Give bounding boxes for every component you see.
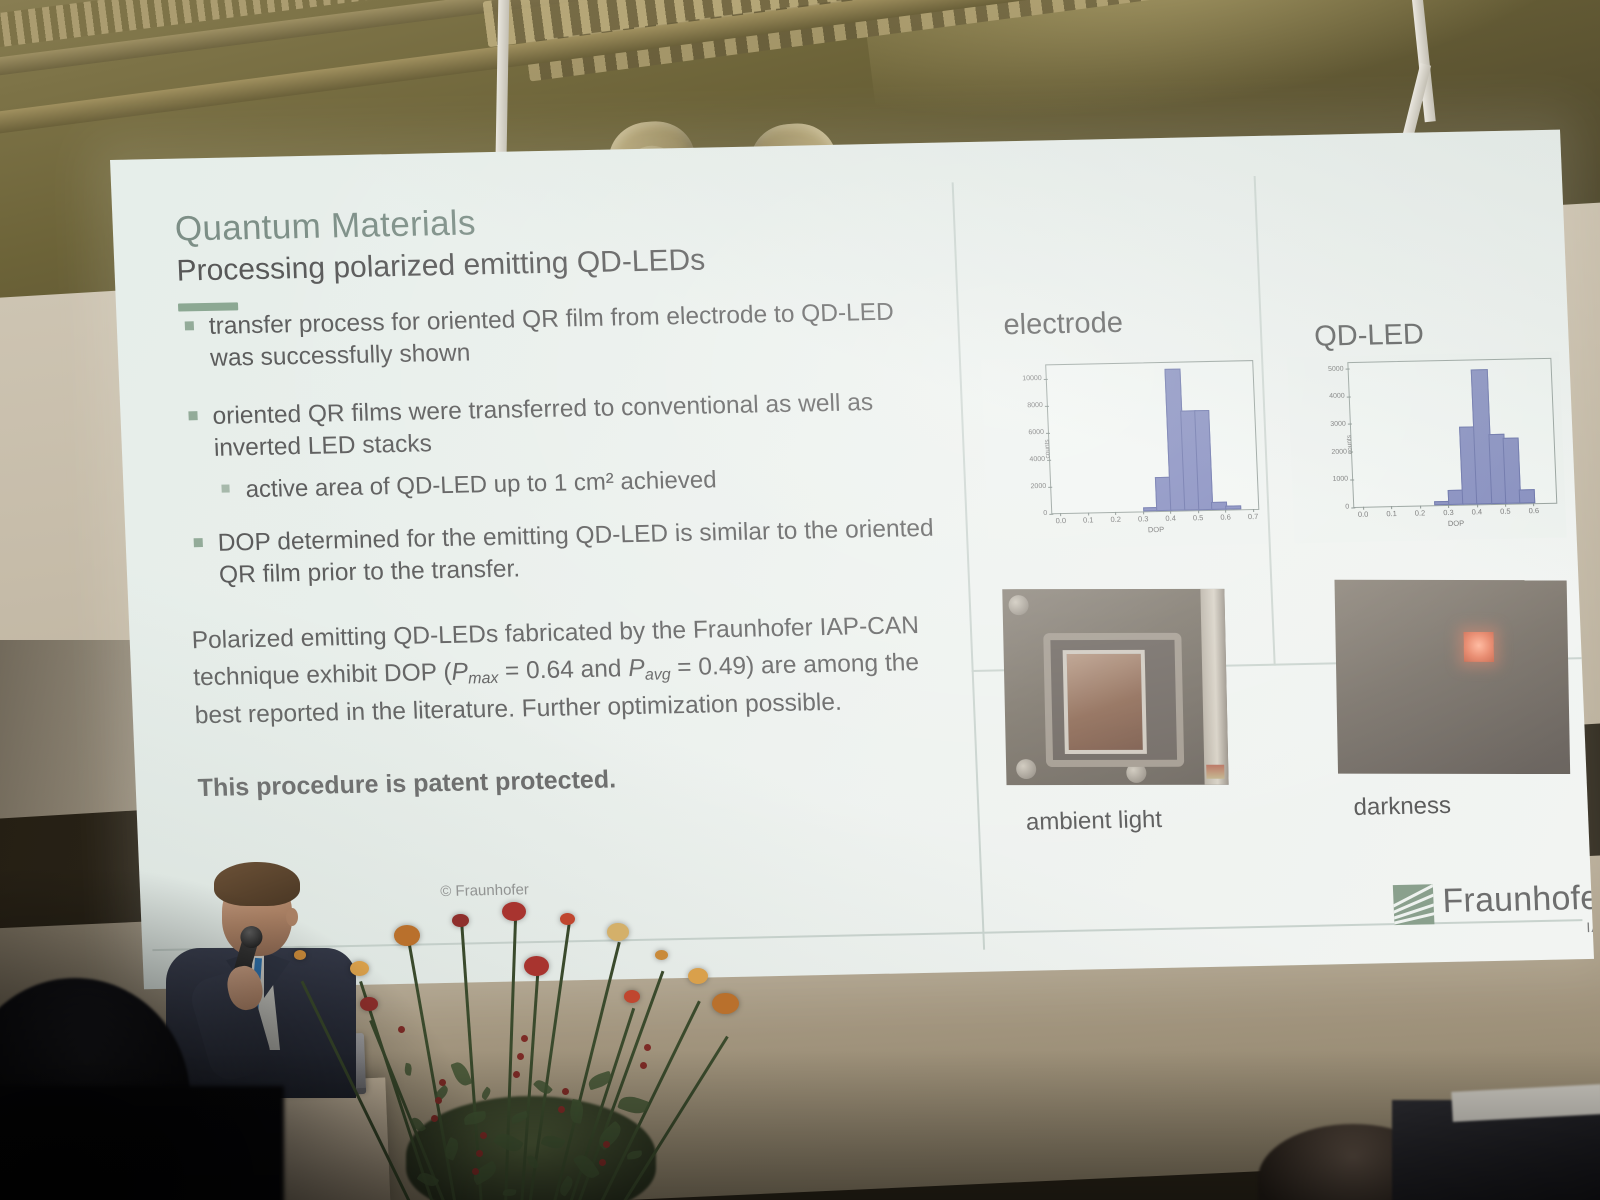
projection-screen: Quantum Materials Processing polarized e…	[110, 130, 1594, 990]
x-axis-tick: 0.0	[1055, 516, 1066, 525]
y-axis-tick: 2000	[1331, 448, 1347, 455]
list-item-sub: active area of QD-LED up to 1 cm² achiev…	[185, 459, 946, 506]
fraunhofer-logo: Fraunhofer IAP	[1393, 881, 1594, 940]
bullet-square-icon	[185, 322, 194, 331]
flower-blossom	[607, 923, 629, 941]
x-axis-label-qdled: DOP	[1448, 519, 1465, 528]
plot-area-qdled: counts DOP 0100020003000400050000.00.10.…	[1347, 358, 1557, 508]
flower-blossom	[502, 902, 526, 921]
y-axis-tick: 8000	[1027, 402, 1043, 409]
y-axis-tick: 4000	[1029, 456, 1045, 463]
bullet-text: DOP determined for the emitting QD-LED i…	[217, 515, 934, 589]
x-axis-tick: 0.6	[1220, 513, 1231, 522]
logo-wordmark: Fraunhofer	[1442, 881, 1594, 918]
x-axis-tick: 0.1	[1386, 509, 1397, 518]
x-axis-tick: 0.4	[1165, 514, 1176, 523]
device-aperture	[1043, 633, 1184, 767]
slide-left-column: Quantum Materials Processing polarized e…	[174, 195, 958, 804]
screw-icon	[1008, 595, 1028, 615]
y-axis-tick: 6000	[1028, 429, 1044, 436]
emitting-qdled-spot	[1464, 632, 1495, 662]
x-axis-label-electrode: DOP	[1148, 525, 1165, 534]
chart-electrode: counts DOP 02000400060008000100000.00.10…	[981, 354, 1267, 550]
flower-blossom	[688, 968, 708, 984]
list-item: oriented QR films were transferred to co…	[182, 386, 945, 466]
x-axis-tick: 0.1	[1083, 515, 1094, 524]
y-axis-tick: 5000	[1328, 365, 1344, 372]
bullet-square-icon	[188, 411, 197, 420]
x-axis-tick: 0.5	[1193, 513, 1204, 522]
p-avg-symbol: P	[628, 655, 645, 682]
bullet-list: transfer process for oriented QR film fr…	[178, 296, 949, 592]
y-axis-tick: 4000	[1329, 393, 1345, 400]
photo-edge-highlight	[1206, 765, 1224, 779]
bullet-text: active area of QD-LED up to 1 cm² achiev…	[245, 466, 717, 503]
device-edge	[1200, 589, 1228, 785]
x-axis-tick: 0.7	[1248, 512, 1259, 521]
photo-ambient-light	[1002, 589, 1228, 785]
x-axis-tick: 0.5	[1500, 507, 1511, 516]
plot-area-electrode: counts DOP 02000400060008000100000.00.10…	[1045, 360, 1259, 514]
y-axis-tick: 0	[1043, 510, 1047, 517]
y-axis-tick: 1000	[1332, 476, 1348, 483]
flower-blossom	[560, 913, 575, 925]
bullet-text: oriented QR films were transferred to co…	[212, 389, 874, 462]
p-avg-subscript: avg	[645, 666, 671, 684]
flower-blossom	[624, 990, 640, 1003]
flower-berry	[521, 1035, 528, 1042]
x-axis-tick: 0.4	[1472, 507, 1483, 516]
y-axis-tick: 0	[1345, 504, 1349, 511]
y-axis-tick: 2000	[1030, 483, 1046, 490]
photo-right-caption: darkness	[1353, 792, 1452, 822]
x-axis-tick: 0.2	[1415, 508, 1426, 517]
x-axis-tick: 0.3	[1443, 508, 1454, 517]
histogram-bar	[1519, 490, 1536, 504]
list-item: transfer process for oriented QR film fr…	[178, 296, 941, 376]
bullet-square-icon	[221, 484, 229, 492]
x-axis-tick: 0.0	[1358, 510, 1369, 519]
y-axis-tick: 10000	[1022, 375, 1042, 382]
p-max-symbol: P	[451, 658, 468, 685]
histogram-bar	[1194, 410, 1214, 510]
chart-left-title: electrode	[1003, 307, 1124, 342]
summary-paragraph: Polarized emitting QD-LEDs fabricated by…	[191, 606, 956, 735]
patent-notice: This procedure is patent protected.	[197, 759, 958, 804]
photo-bottom-vignette	[0, 1050, 1600, 1200]
divider-vertical-main	[952, 182, 985, 949]
x-axis-tick: 0.3	[1138, 514, 1149, 523]
list-item: DOP determined for the emitting QD-LED i…	[187, 512, 950, 592]
bullet-text: transfer process for oriented QR film fr…	[208, 299, 894, 372]
photo-darkness	[1334, 580, 1570, 774]
histogram-bar	[1225, 506, 1241, 510]
chart-right-title: QD-LED	[1314, 318, 1425, 353]
x-axis-tick: 0.6	[1528, 506, 1539, 515]
flower-blossom	[655, 950, 668, 960]
flower-blossom	[524, 956, 549, 976]
photo-left-caption: ambient light	[1025, 806, 1162, 837]
y-axis-tick: 3000	[1330, 421, 1346, 428]
screw-icon	[1016, 759, 1036, 779]
qdled-active-area	[1063, 650, 1147, 754]
p-max-subscript: max	[468, 670, 499, 688]
bullet-square-icon	[194, 538, 203, 547]
presentation-room-photo: Quantum Materials Processing polarized e…	[0, 0, 1600, 1200]
p-max-value: = 0.64 and	[498, 655, 629, 685]
presentation-slide: Quantum Materials Processing polarized e…	[110, 130, 1594, 990]
fraunhofer-sunburst-mark-icon	[1393, 884, 1435, 925]
x-axis-tick: 0.2	[1110, 515, 1121, 524]
chart-qdled: counts DOP 0100020003000400050000.00.10.…	[1287, 352, 1567, 544]
